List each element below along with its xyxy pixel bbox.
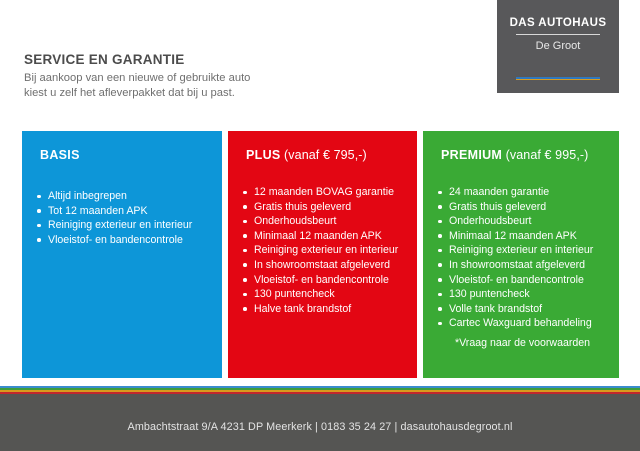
package-feature-item: 130 puntencheck (241, 287, 405, 302)
package-feature-label: Minimaal 12 maanden APK (254, 230, 382, 242)
bullet-icon (243, 263, 247, 267)
bullet-icon (438, 293, 442, 297)
bullet-icon (243, 191, 247, 195)
package-feature-label: Altijd inbegrepen (48, 190, 127, 202)
package-header-premium: PREMIUM (vanaf € 995,-) (441, 147, 607, 163)
bullet-icon (438, 191, 442, 195)
package-feature-label: 130 puntencheck (449, 288, 530, 300)
package-feature-label: Vloeistof- en bandencontrole (48, 234, 183, 246)
bullet-icon (438, 322, 442, 326)
package-feature-label: Halve tank brandstof (254, 303, 351, 315)
package-card-premium[interactable]: PREMIUM (vanaf € 995,-) 24 maanden garan… (423, 131, 619, 378)
bullet-icon (243, 278, 247, 282)
package-feature-item: 24 maanden garantie (436, 185, 607, 200)
package-price: (vanaf € 795,-) (284, 148, 367, 162)
package-feature-item: 12 maanden BOVAG garantie (241, 185, 405, 200)
package-feature-item: Reiniging exterieur en interieur (35, 218, 210, 233)
package-card-plus[interactable]: PLUS (vanaf € 795,-) 12 maanden BOVAG ga… (228, 131, 417, 378)
package-feature-label: Vloeistof- en bandencontrole (254, 274, 389, 286)
package-feature-item: Gratis thuis geleverd (436, 200, 607, 215)
package-feature-label: 130 puntencheck (254, 288, 335, 300)
intro-line-1: Bij aankoop van een nieuwe of gebruikte … (24, 71, 354, 86)
package-feature-label: Reiniging exterieur en interieur (449, 244, 593, 256)
bullet-icon (438, 220, 442, 224)
package-feature-label: Cartec Waxguard behandeling (449, 317, 592, 329)
logo-stripe (516, 79, 600, 81)
footer-accent-stripes (0, 386, 640, 394)
package-feature-label: Minimaal 12 maanden APK (449, 230, 577, 242)
bullet-icon (243, 205, 247, 209)
package-feature-item: Minimaal 12 maanden APK (241, 229, 405, 244)
bullet-icon (37, 238, 41, 242)
package-feature-item: Reiniging exterieur en interieur (241, 243, 405, 258)
package-feature-list-plus: 12 maanden BOVAG garantieGratis thuis ge… (241, 185, 405, 316)
package-feature-label: Reiniging exterieur en interieur (254, 244, 398, 256)
package-feature-label: 12 maanden BOVAG garantie (254, 186, 394, 198)
package-feature-item: Minimaal 12 maanden APK (436, 229, 607, 244)
bullet-icon (243, 220, 247, 224)
intro-line-2: kiest u zelf het afleverpakket dat bij u… (24, 86, 354, 101)
package-feature-label: In showroomstaat afgeleverd (254, 259, 390, 271)
bullet-icon (37, 224, 41, 228)
package-header-basis: BASIS (40, 147, 210, 163)
package-feature-label: Volle tank brandstof (449, 303, 542, 315)
package-feature-list-premium: 24 maanden garantieGratis thuis geleverd… (436, 185, 607, 351)
package-feature-item: 130 puntencheck (436, 287, 607, 302)
package-feature-label: In showroomstaat afgeleverd (449, 259, 585, 271)
package-feature-label: Onderhoudsbeurt (254, 215, 336, 227)
package-feature-item: Altijd inbegrepen (35, 189, 210, 204)
bullet-icon (37, 195, 41, 199)
logo-divider (516, 34, 600, 35)
logo-accent-stripes (516, 77, 600, 80)
package-feature-item: Vloeistof- en bandencontrole (241, 273, 405, 288)
bullet-icon (438, 278, 442, 282)
package-feature-label: Gratis thuis geleverd (449, 201, 546, 213)
package-feature-label: Vloeistof- en bandencontrole (449, 274, 584, 286)
package-feature-label: Onderhoudsbeurt (449, 215, 531, 227)
bullet-icon (37, 209, 41, 213)
bullet-icon (438, 234, 442, 238)
package-card-basis[interactable]: BASIS Altijd inbegrepenTot 12 maanden AP… (22, 131, 222, 378)
package-feature-label: Reiniging exterieur en interieur (48, 219, 192, 231)
bullet-icon (438, 263, 442, 267)
package-name: PREMIUM (441, 148, 502, 162)
package-feature-item: Volle tank brandstof (436, 302, 607, 317)
bullet-icon (243, 249, 247, 253)
package-feature-item: In showroomstaat afgeleverd (241, 258, 405, 273)
package-feature-label: 24 maanden garantie (449, 186, 549, 198)
package-feature-item: Vloeistof- en bandencontrole (35, 233, 210, 248)
logo-box: DAS AUTOHAUS De Groot (497, 0, 619, 93)
package-feature-label: Tot 12 maanden APK (48, 205, 148, 217)
logo-brand-name: DAS AUTOHAUS (497, 16, 619, 30)
package-header-plus: PLUS (vanaf € 795,-) (246, 147, 405, 163)
package-feature-item: Halve tank brandstof (241, 302, 405, 317)
bullet-icon (438, 205, 442, 209)
package-feature-item: In showroomstaat afgeleverd (436, 258, 607, 273)
intro-block: SERVICE EN GARANTIE Bij aankoop van een … (24, 52, 354, 100)
package-feature-item: Reiniging exterieur en interieur (436, 243, 607, 258)
package-feature-item: Onderhoudsbeurt (436, 214, 607, 229)
bullet-icon (438, 249, 442, 253)
bullet-icon (243, 234, 247, 238)
package-feature-list-basis: Altijd inbegrepenTot 12 maanden APKReini… (35, 189, 210, 247)
package-footnote: *Vraag naar de voorwaarden (436, 336, 607, 351)
package-feature-item: Tot 12 maanden APK (35, 204, 210, 219)
bullet-icon (243, 293, 247, 297)
package-name: PLUS (246, 148, 281, 162)
bullet-icon (438, 307, 442, 311)
page-title: SERVICE EN GARANTIE (24, 52, 354, 68)
package-feature-label: Gratis thuis geleverd (254, 201, 351, 213)
bullet-icon (243, 307, 247, 311)
package-feature-item: Gratis thuis geleverd (241, 200, 405, 215)
package-feature-item: Onderhoudsbeurt (241, 214, 405, 229)
logo-sub-name: De Groot (497, 39, 619, 53)
package-feature-item: Cartec Waxguard behandeling (436, 316, 607, 331)
package-price: (vanaf € 995,-) (506, 148, 589, 162)
footer-contact-text: Ambachtstraat 9/A 4231 DP Meerkerk | 018… (0, 420, 640, 434)
package-name: BASIS (40, 148, 80, 162)
package-feature-item: Vloeistof- en bandencontrole (436, 273, 607, 288)
